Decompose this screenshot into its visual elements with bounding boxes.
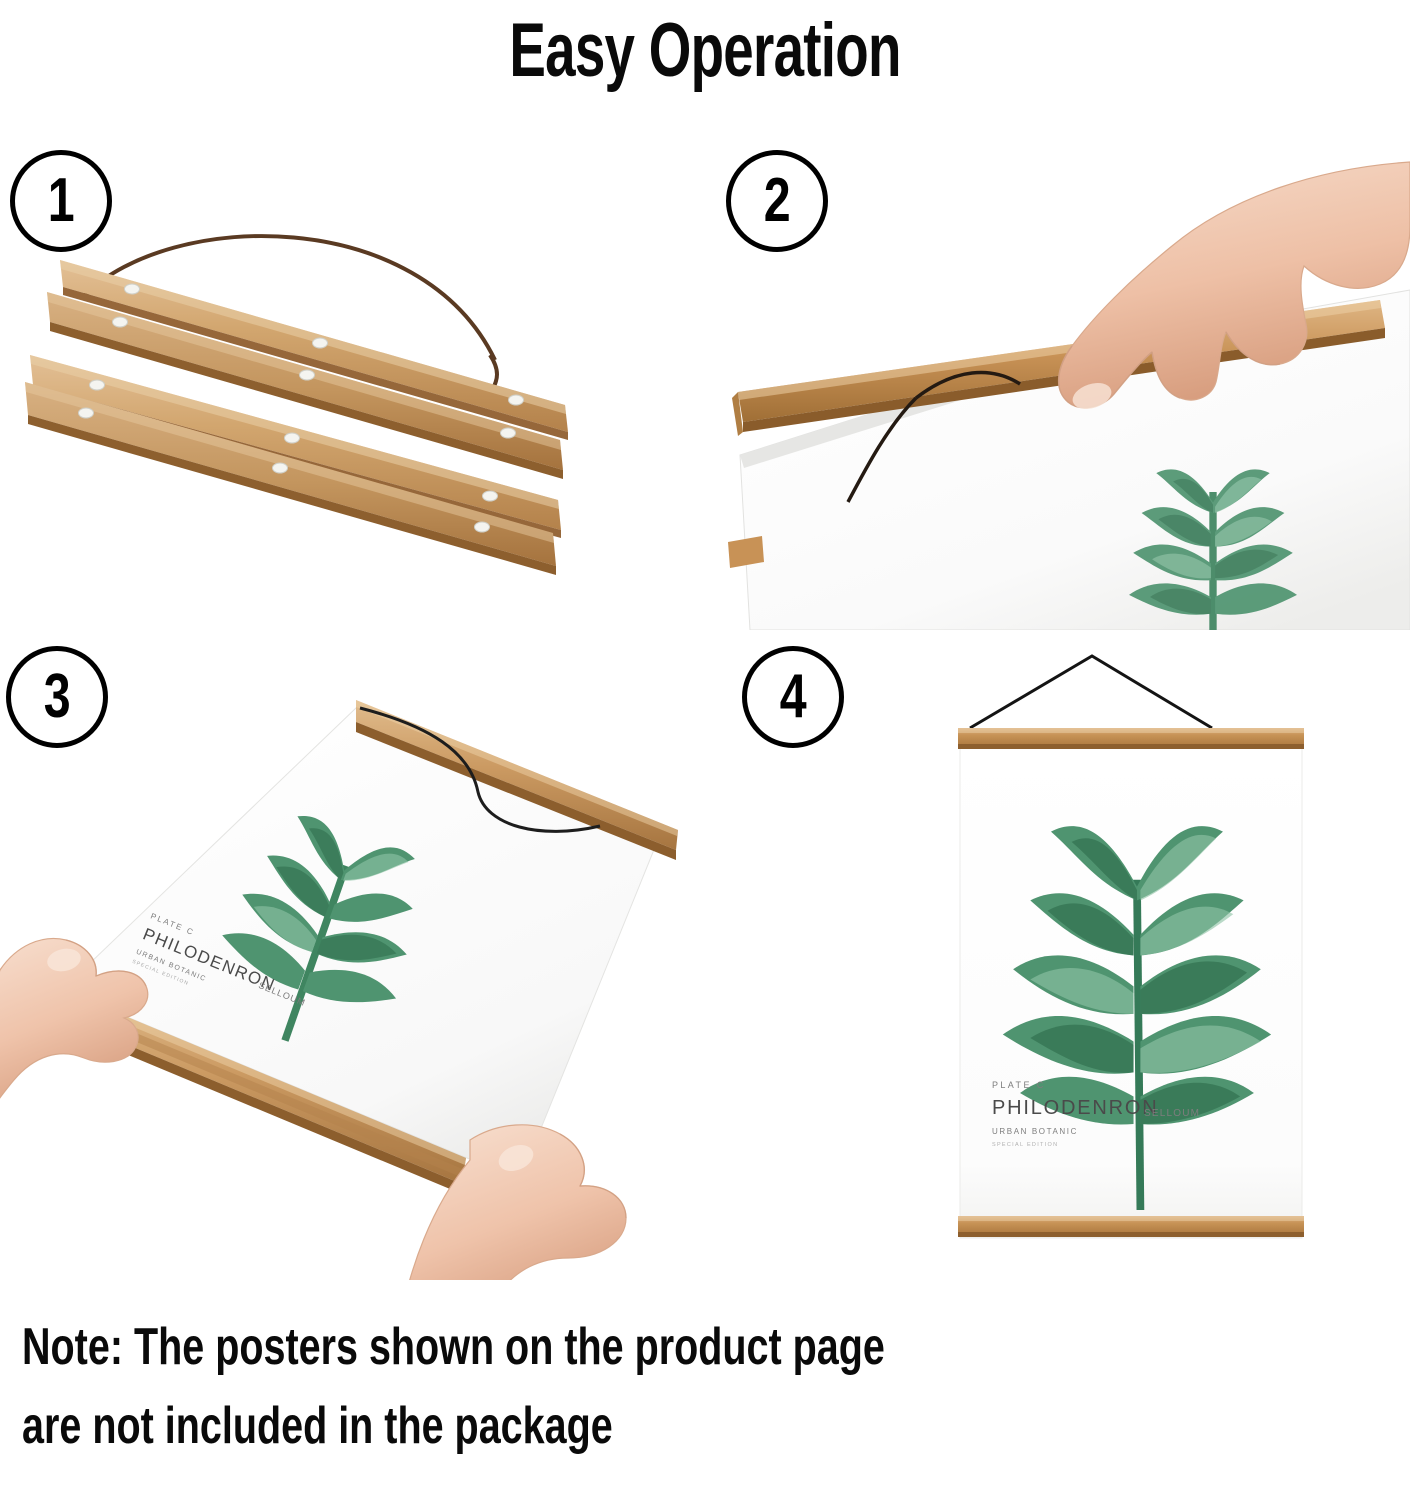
- caption-plate: PLATE C: [992, 1080, 1046, 1090]
- note-line-2: are not included in the package: [22, 1387, 1071, 1466]
- wood-bar-bottom: [958, 1216, 1304, 1237]
- step-1-illustration: [20, 200, 680, 620]
- caption-variety: SELLOUM: [1144, 1108, 1200, 1119]
- wood-bar-top: [958, 728, 1304, 749]
- caption-brand: URBAN BOTANIC: [992, 1127, 1078, 1136]
- caption-species: PHILODENRON: [992, 1097, 1159, 1119]
- step-4-illustration: PLATE C PHILODENRON SELLOUM URBAN BOTANI…: [720, 640, 1410, 1280]
- note-text: Note: The posters shown on the product p…: [22, 1308, 1402, 1466]
- page-title: Easy Operation: [197, 0, 1212, 100]
- caption-subline: SPECIAL EDITION: [992, 1142, 1058, 1148]
- instruction-sheet: Easy Operation 1 2 3 4: [0, 0, 1410, 1497]
- hanging-cord: [970, 656, 1212, 728]
- note-line-1: Note: The posters shown on the product p…: [22, 1308, 1071, 1387]
- step-3-illustration: PLATE C PHILODENRON SELLOUM URBAN BOTANI…: [0, 660, 700, 1280]
- step-2-illustration: [720, 150, 1410, 630]
